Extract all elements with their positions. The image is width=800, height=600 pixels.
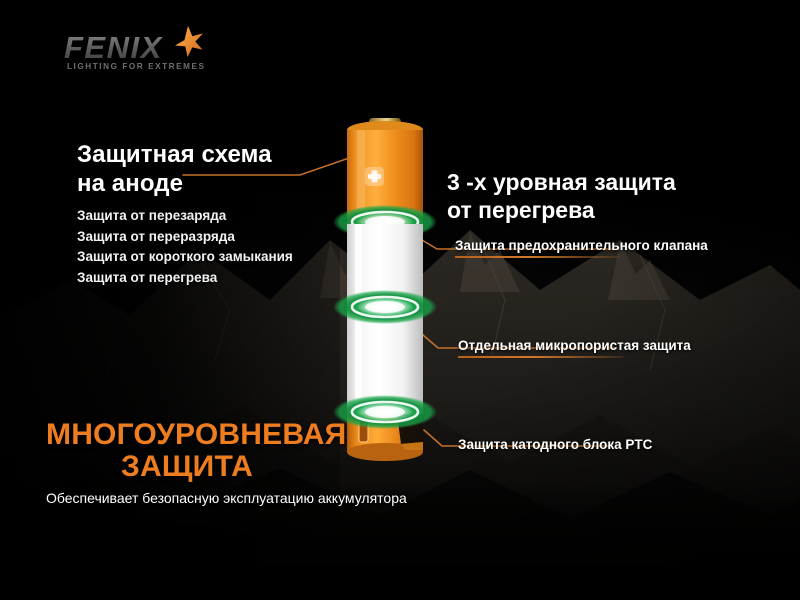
right-heading-line2: от перегрева: [447, 196, 747, 224]
right-heading-line1: 3 -х уровная защита: [447, 168, 747, 196]
feature-item-overcharge: Защита от перезаряда: [77, 206, 367, 227]
feature-item-short-circuit: Защита от короткого замыкания: [77, 247, 367, 268]
callout-label-microporous: Отдельная микропористая защита: [458, 338, 691, 358]
feature-item-overheat: Защита от перегрева: [77, 268, 367, 289]
fenix-star-icon: [175, 26, 203, 57]
slide-canvas: FENIX LIGHTING FOR EXTREMES: [0, 0, 800, 600]
feature-item-overdischarge: Защита от переразряда: [77, 227, 367, 248]
callout-label-ptc-cathode: Защита катодного блока PTC: [458, 437, 652, 457]
footer-subline: Обеспечивает безопасную эксплуатацию акк…: [46, 490, 407, 506]
fenix-wordmark: FENIX: [64, 30, 164, 65]
ring-microporous: [333, 290, 437, 324]
left-heading-line1: Защитная схема: [77, 140, 347, 169]
footer-headline-line1: МНОГОУРОВНЕВАЯ: [46, 419, 346, 451]
battery-plus-icon: [365, 167, 384, 186]
left-feature-list: Защита от перезаряда Защита от переразря…: [77, 206, 367, 288]
footer-headline-line2: ЗАЩИТА: [46, 451, 346, 483]
left-heading-line2: на аноде: [77, 169, 347, 198]
callout-label-vent-valve: Защита предохранительного клапана: [455, 238, 708, 258]
ring-ptc-cathode: [333, 395, 437, 429]
right-heading: 3 -х уровная защита от перегрева: [447, 168, 747, 225]
left-heading: Защитная схема на аноде: [77, 140, 347, 199]
fenix-tagline: LIGHTING FOR EXTREMES: [67, 62, 206, 71]
fenix-logo: FENIX LIGHTING FOR EXTREMES: [62, 24, 272, 72]
footer-headline: МНОГОУРОВНЕВАЯ ЗАЩИТА: [46, 419, 346, 482]
